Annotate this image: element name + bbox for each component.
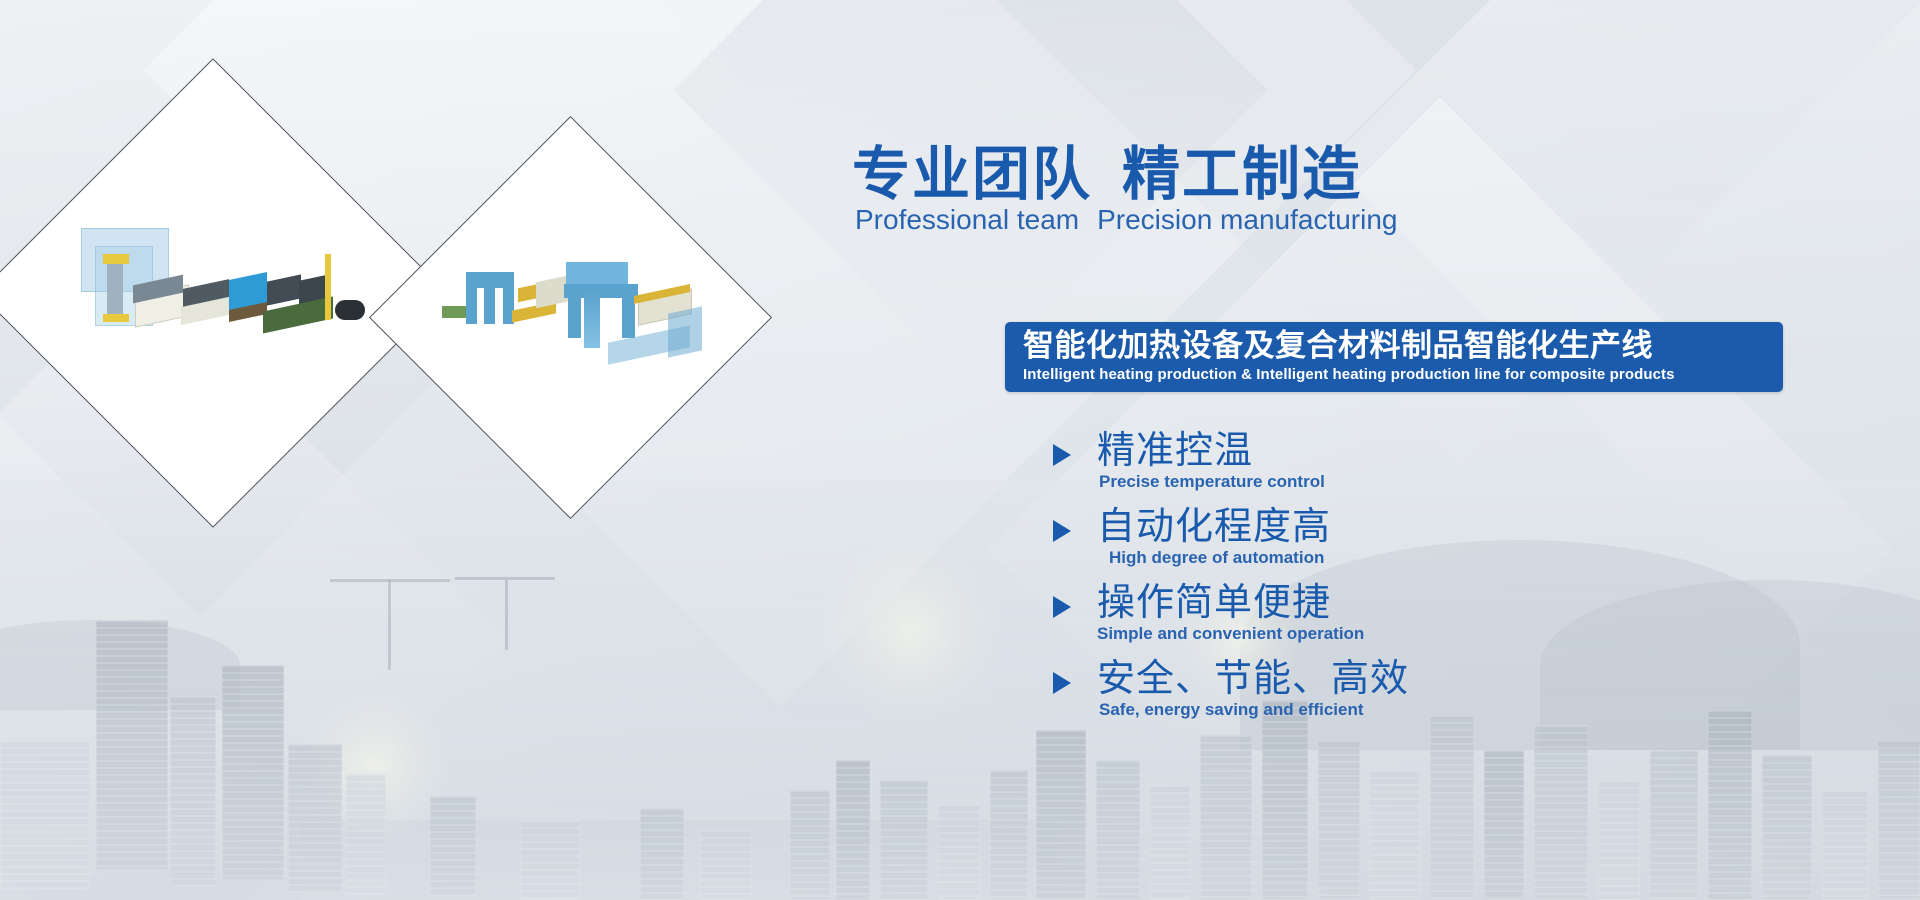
triangle-bullet-icon: [1053, 520, 1071, 542]
ribbon-title-en: Intelligent heating production & Intelli…: [1023, 366, 1775, 385]
headline: 专业团队精工制造: [852, 146, 1362, 204]
headline-cn-left: 专业团队: [852, 142, 1092, 207]
subheadline: Professional teamPrecision manufacturing: [855, 204, 1397, 236]
ribbon-title-cn: 智能化加热设备及复合材料制品智能化生产线: [1023, 328, 1775, 365]
product-ribbon: 智能化加热设备及复合材料制品智能化生产线 Intelligent heating…: [1005, 322, 1783, 392]
hero-banner: 专业团队精工制造 Professional teamPrecision manu…: [0, 0, 1920, 900]
feature-label-cn: 自动化程度高: [1097, 506, 1735, 550]
triangle-bullet-icon: [1053, 672, 1071, 694]
feature-item: 操作简单便捷 Simple and convenient operation: [1035, 582, 1735, 644]
feature-list: 精准控温 Precise temperature control 自动化程度高 …: [1035, 430, 1735, 734]
feature-label-en: Safe, energy saving and efficient: [1099, 700, 1735, 720]
production-line-render-1: [48, 128, 378, 458]
feature-label-cn: 操作简单便捷: [1097, 582, 1735, 626]
product-image-diamond-1[interactable]: [0, 58, 448, 528]
feature-label-cn: 精准控温: [1097, 430, 1735, 474]
feature-item: 安全、节能、高效 Safe, energy saving and efficie…: [1035, 658, 1735, 720]
production-line-render-2: [429, 176, 712, 459]
feature-item: 自动化程度高 High degree of automation: [1035, 506, 1735, 568]
feature-label-en: Precise temperature control: [1099, 472, 1735, 492]
feature-label-en: Simple and convenient operation: [1097, 624, 1735, 644]
triangle-bullet-icon: [1053, 596, 1071, 618]
subheadline-en-left: Professional team: [855, 204, 1079, 235]
headline-cn-right: 精工制造: [1122, 142, 1362, 207]
triangle-bullet-icon: [1053, 444, 1071, 466]
feature-item: 精准控温 Precise temperature control: [1035, 430, 1735, 492]
product-image-diamond-2[interactable]: [369, 116, 772, 519]
subheadline-en-right: Precision manufacturing: [1097, 204, 1397, 235]
feature-label-en: High degree of automation: [1109, 548, 1735, 568]
feature-label-cn: 安全、节能、高效: [1097, 658, 1735, 702]
banner-copy: 专业团队精工制造 Professional teamPrecision manu…: [1005, 0, 1905, 900]
